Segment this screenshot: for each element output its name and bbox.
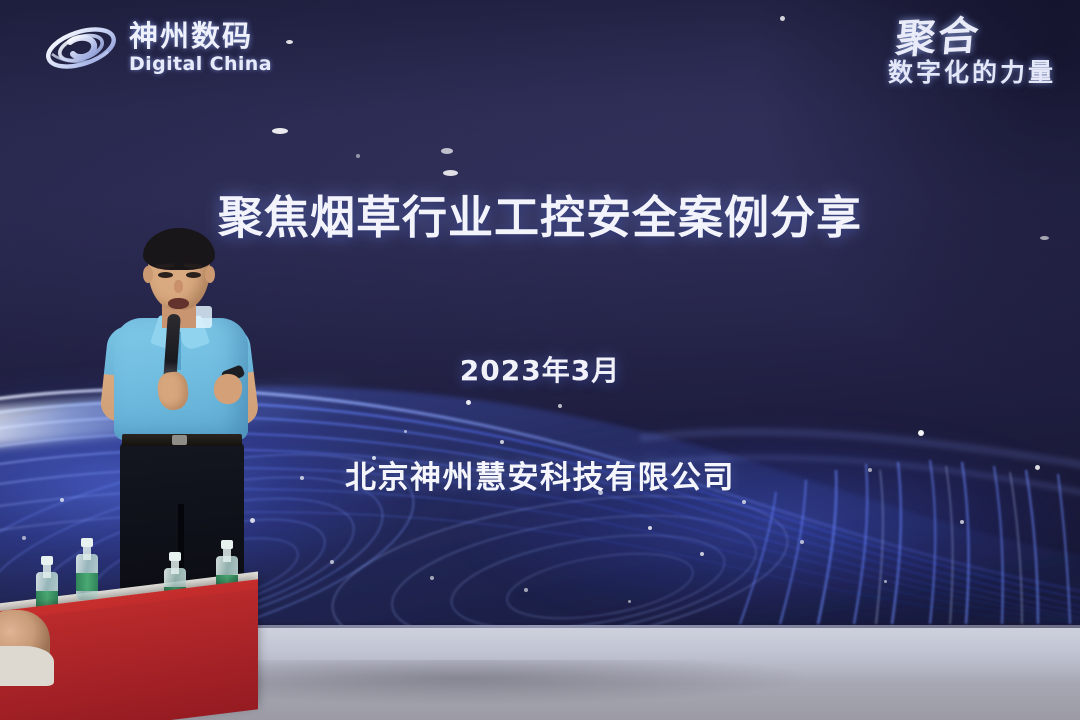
- speaker-hair: [143, 228, 215, 270]
- water-bottle: [76, 538, 98, 600]
- foreground-attendee-sleeve: [0, 646, 54, 686]
- conference-stage-scene: 神州数码 Digital China 聚合 数字化的力量 聚焦烟草行业工控安全案…: [0, 0, 1080, 720]
- speaker-ear-right: [205, 266, 215, 283]
- speaker-eye-right: [186, 272, 201, 278]
- brand-logo: 神州数码 Digital China: [42, 18, 272, 78]
- brand-name-en: Digital China: [129, 55, 272, 74]
- swirl-galaxy-icon: [42, 18, 120, 78]
- brand-name-cn: 神州数码: [129, 22, 272, 51]
- speaker-person: [96, 222, 286, 626]
- speaker-nose: [174, 280, 183, 293]
- stage-floor-shadow: [150, 660, 930, 720]
- slogan-calligraphy: 聚合: [894, 16, 982, 60]
- event-slogan: 聚合 数字化的力量: [888, 18, 1056, 89]
- speaker-belt-buckle: [172, 435, 187, 445]
- speaker-ear-left: [143, 266, 153, 283]
- speaker-mouth: [168, 298, 189, 309]
- speaker-eye-left: [158, 272, 173, 278]
